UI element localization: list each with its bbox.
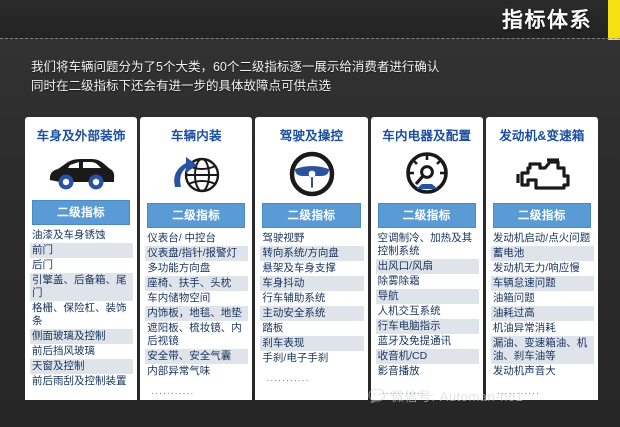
card-title: 车辆内装 — [140, 117, 252, 148]
intro-paragraph: 我们将车辆问题分为了5个大类，60个二级指标逐一展示给消费者进行确认 同时在二级… — [31, 58, 591, 96]
list-item[interactable]: 出风口/风扇 — [376, 259, 479, 274]
list-item[interactable]: 内饰板，地毯、地垫 — [145, 306, 248, 321]
list-item[interactable]: 遮阳板、梳妆镜、内后视镜 — [145, 321, 248, 349]
list-item[interactable]: 转向系统/方向盘 — [260, 246, 363, 261]
engine-icon — [486, 148, 598, 200]
list-item[interactable]: 机油异常消耗 — [491, 321, 594, 336]
list-item[interactable]: 侧面玻璃及控制 — [30, 329, 133, 344]
list-item[interactable]: 座椅、扶手、头枕 — [145, 276, 248, 291]
sub-indicator-bar: 二级指标 — [493, 203, 591, 228]
list-item[interactable]: 车身抖动 — [260, 276, 363, 291]
list-item[interactable]: 蓄电池 — [491, 246, 594, 261]
page-title: 指标体系 — [502, 4, 592, 34]
list-ellipsis: ........... — [145, 379, 248, 399]
list-item[interactable]: 引擎盖、后备箱、尾门 — [30, 273, 133, 301]
list-item[interactable]: 发动机声音大 — [491, 364, 594, 379]
list-item[interactable]: 油耗过高 — [491, 306, 594, 321]
list-ellipsis: ........... — [260, 366, 363, 386]
sub-indicator-bar: 二级指标 — [378, 203, 476, 228]
steering-wheel-icon — [255, 148, 367, 200]
list-item[interactable]: 导航 — [376, 289, 479, 304]
list-item[interactable]: 驾驶视野 — [260, 231, 363, 246]
list-item[interactable]: 发动机启动/点火问题 — [491, 231, 594, 246]
list-item[interactable]: 格栅、保险杠、装饰条 — [30, 301, 133, 329]
list-item[interactable]: 手刹/电子手刹 — [260, 351, 363, 366]
list-item[interactable]: 天窗及控制 — [30, 359, 133, 374]
list-item[interactable]: 油漆及车身锈蚀 — [30, 228, 133, 243]
list-item[interactable]: 油箱问题 — [491, 291, 594, 306]
list-item[interactable]: 除雾除霜 — [376, 274, 479, 289]
sub-indicator-bar: 二级指标 — [262, 203, 360, 228]
list-item[interactable]: 空调制冷、加热及其控制系统 — [376, 231, 479, 259]
list-item[interactable]: 悬架及车身支撑 — [260, 261, 363, 276]
category-card-electronics[interactable]: 车内电器及配置 二级指标 空调制冷、加热及其控制系统 出风口/风扇 — [371, 117, 483, 400]
indicator-list: 空调制冷、加热及其控制系统 出风口/风扇 除雾除霜 导航 人机交互系统 行车电脑… — [371, 231, 483, 400]
sub-indicator-bar: 二级指标 — [32, 200, 130, 225]
list-item[interactable]: 车内储物空间 — [145, 291, 248, 306]
list-item[interactable]: 仪表盘/指针/报警灯 — [145, 246, 248, 261]
category-card-interior[interactable]: 车辆内装 二级指标 仪表台/ 中控台 仪表盘/指针/报警灯 多功能方向盘 座椅、… — [140, 117, 252, 400]
list-item[interactable]: 踏板 — [260, 321, 363, 336]
speech-bubble-icon — [368, 388, 386, 403]
watermark-text: 微信号: Automan-no1 — [391, 386, 523, 405]
list-item[interactable]: 影音播放 — [376, 364, 479, 379]
indicator-list: 仪表台/ 中控台 仪表盘/指针/报警灯 多功能方向盘 座椅、扶手、头枕 车内储物… — [140, 231, 252, 400]
list-item[interactable]: 行车辅助系统 — [260, 291, 363, 306]
slide: 指标体系 我们将车辆问题分为了5个大类，60个二级指标逐一展示给消费者进行确认 … — [0, 0, 620, 427]
watermark: 微信号: Automan-no1 — [368, 386, 523, 405]
list-item[interactable]: 仪表台/ 中控台 — [145, 231, 248, 246]
list-item[interactable]: 车辆怠速问题 — [491, 276, 594, 291]
category-card-body-exterior[interactable]: 车身及外部装饰 二级指标 油漆及车身锈蚀 前门 后门 引擎盖、后备箱、尾门 — [25, 117, 137, 400]
globe-arrow-icon — [140, 148, 252, 200]
card-title: 驾驶及操控 — [255, 117, 367, 148]
list-item[interactable]: 多功能方向盘 — [145, 261, 248, 276]
list-item[interactable]: 人机交互系统 — [376, 304, 479, 319]
header-band: 指标体系 — [0, 0, 620, 38]
category-card-row: 车身及外部装饰 二级指标 油漆及车身锈蚀 前门 后门 引擎盖、后备箱、尾门 — [25, 117, 598, 400]
list-item[interactable]: 前后雨刮及控制装置 — [30, 374, 133, 389]
car-icon — [25, 148, 137, 197]
list-item[interactable]: 安全带、安全气囊 — [145, 349, 248, 364]
list-item[interactable]: 漏油、变速箱油、机油、刹车油等 — [491, 336, 594, 364]
sub-indicator-bar: 二级指标 — [147, 203, 245, 228]
list-item[interactable]: 行车电脑指示 — [376, 319, 479, 334]
list-item[interactable]: 刹车表现 — [260, 336, 363, 351]
card-title: 发动机&变速箱 — [486, 117, 598, 148]
list-ellipsis: ........... — [30, 389, 133, 400]
indicator-list: 驾驶视野 转向系统/方向盘 悬架及车身支撑 车身抖动 行车辅助系统 主动安全系统… — [255, 231, 367, 400]
card-title: 车身及外部装饰 — [25, 117, 137, 148]
category-card-driving[interactable]: 驾驶及操控 二级指标 驾驶视野 转向系统/方向盘 悬架及车身支撑 车身抖动 行车… — [255, 117, 367, 400]
intro-line-1: 我们将车辆问题分为了5个大类，60个二级指标逐一展示给消费者进行确认 — [31, 58, 591, 77]
list-item[interactable]: 前后挡风玻璃 — [30, 344, 133, 359]
list-item[interactable]: 收音机/CD — [376, 349, 479, 364]
list-item[interactable]: 蓝牙及免提通讯 — [376, 334, 479, 349]
card-title: 车内电器及配置 — [371, 117, 483, 148]
header-divider — [0, 38, 620, 39]
gauge-icon — [371, 148, 483, 200]
intro-line-2: 同时在二级指标下还会有进一步的具体故障点可供点选 — [31, 77, 591, 96]
list-item[interactable]: 内部异常气味 — [145, 364, 248, 379]
list-item[interactable]: 主动安全系统 — [260, 306, 363, 321]
list-item[interactable]: 前门 — [30, 243, 133, 258]
indicator-list: 油漆及车身锈蚀 前门 后门 引擎盖、后备箱、尾门 格栅、保险杠、装饰条 侧面玻璃… — [25, 228, 137, 400]
category-card-engine[interactable]: 发动机&变速箱 二级指标 发动机启动/点火问题 蓄电池 发动机无力/响应慢 车辆… — [486, 117, 598, 400]
list-item[interactable]: 发动机无力/响应慢 — [491, 261, 594, 276]
header-accent-bar — [608, 0, 620, 40]
indicator-list: 发动机启动/点火问题 蓄电池 发动机无力/响应慢 车辆怠速问题 油箱问题 油耗过… — [486, 231, 598, 400]
list-item[interactable]: 后门 — [30, 258, 133, 273]
